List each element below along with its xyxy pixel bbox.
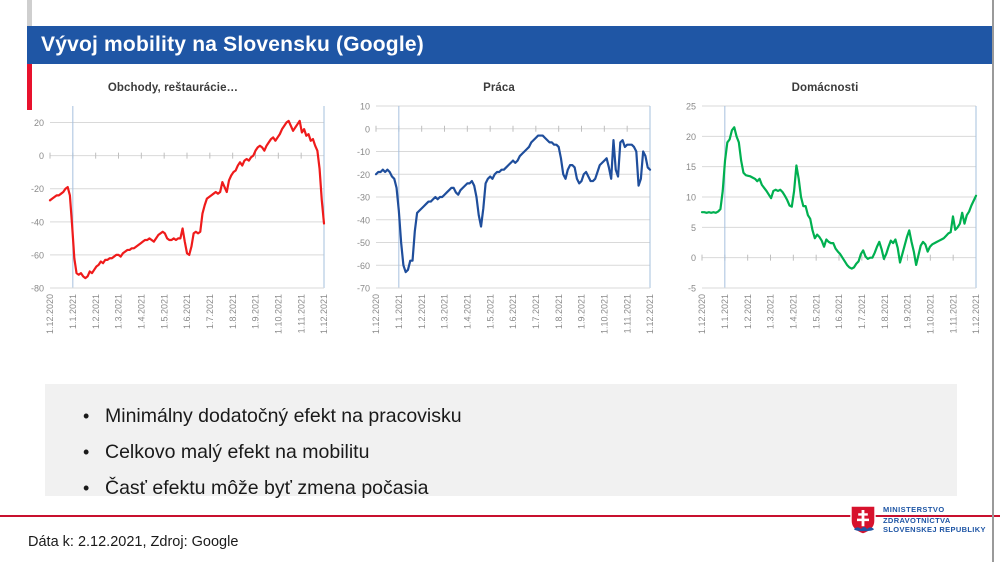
chart-card-residential: Domácnosti 2520151050-51.12.20201.1.2021…	[662, 78, 988, 370]
svg-text:1.7.2021: 1.7.2021	[205, 294, 215, 329]
svg-text:-70: -70	[357, 284, 370, 294]
svg-text:1.12.2021: 1.12.2021	[319, 294, 329, 334]
chart-title-residential: Domácnosti	[662, 78, 988, 94]
svg-text:25: 25	[686, 102, 696, 112]
svg-text:1.11.2021: 1.11.2021	[948, 294, 958, 333]
svg-text:1.6.2021: 1.6.2021	[182, 294, 192, 329]
svg-text:20: 20	[686, 132, 696, 142]
chart-title-retail: Obchody, reštaurácie…	[10, 78, 336, 94]
svg-text:1.9.2021: 1.9.2021	[577, 294, 587, 329]
page-title: Vývoj mobility na Slovensku (Google)	[27, 33, 424, 57]
svg-text:1.10.2021: 1.10.2021	[926, 294, 936, 334]
svg-text:1.12.2021: 1.12.2021	[645, 294, 655, 334]
chart-work: 100-10-20-30-40-50-60-701.12.20201.1.202…	[336, 94, 662, 366]
bullet-text: Celkovo malý efekt na mobilitu	[105, 441, 369, 463]
svg-text:-40: -40	[31, 217, 44, 227]
svg-text:1.12.2021: 1.12.2021	[971, 294, 981, 334]
svg-text:-20: -20	[31, 184, 44, 194]
decorative-grey-rail	[27, 0, 32, 26]
svg-text:1.4.2021: 1.4.2021	[137, 294, 147, 329]
slovak-coat-of-arms-icon	[850, 505, 876, 535]
chart-title-work: Práca	[336, 78, 662, 94]
chart-card-work: Práca 100-10-20-30-40-50-60-701.12.20201…	[336, 78, 662, 370]
list-item: • Celkovo malý efekt na mobilitu	[83, 434, 957, 470]
slide-right-edge	[992, 0, 994, 562]
svg-text:1.3.2021: 1.3.2021	[114, 294, 124, 329]
svg-text:1.3.2021: 1.3.2021	[440, 294, 450, 329]
svg-text:-40: -40	[357, 215, 370, 225]
svg-text:1.1.2021: 1.1.2021	[720, 294, 730, 329]
svg-text:1.2.2021: 1.2.2021	[91, 294, 101, 329]
svg-text:1.11.2021: 1.11.2021	[296, 294, 306, 333]
bullet-marker: •	[83, 434, 89, 470]
svg-text:0: 0	[365, 124, 370, 134]
svg-text:-60: -60	[357, 261, 370, 271]
svg-text:1.1.2021: 1.1.2021	[68, 294, 78, 329]
svg-text:-20: -20	[357, 170, 370, 180]
svg-text:0: 0	[691, 253, 696, 263]
svg-text:1.11.2021: 1.11.2021	[622, 294, 632, 333]
source-note: Dáta k: 2.12.2021, Zdroj: Google	[28, 534, 238, 550]
svg-text:-60: -60	[31, 250, 44, 260]
svg-text:-5: -5	[688, 284, 696, 294]
svg-text:1.8.2021: 1.8.2021	[228, 294, 238, 329]
svg-text:1.12.2020: 1.12.2020	[45, 294, 55, 334]
slide-title-bar: Vývoj mobility na Slovensku (Google)	[27, 26, 992, 64]
svg-text:10: 10	[360, 102, 370, 112]
svg-text:1.10.2021: 1.10.2021	[600, 294, 610, 334]
svg-text:1.4.2021: 1.4.2021	[463, 294, 473, 329]
chart-retail: 200-20-40-60-801.12.20201.1.20211.2.2021…	[10, 94, 336, 366]
ministry-line-1: MINISTERSTVO	[883, 506, 986, 516]
svg-text:10: 10	[686, 193, 696, 203]
svg-text:-10: -10	[357, 147, 370, 157]
svg-text:1.5.2021: 1.5.2021	[159, 294, 169, 329]
bullet-marker: •	[83, 398, 89, 434]
svg-text:1.8.2021: 1.8.2021	[880, 294, 890, 329]
charts-row: Obchody, reštaurácie… 200-20-40-60-801.1…	[10, 78, 990, 370]
svg-text:15: 15	[686, 162, 696, 172]
svg-text:1.1.2021: 1.1.2021	[394, 294, 404, 329]
list-item: • Časť efektu môže byť zmena počasia	[83, 470, 957, 506]
svg-text:1.6.2021: 1.6.2021	[508, 294, 518, 329]
svg-text:1.9.2021: 1.9.2021	[903, 294, 913, 329]
svg-text:1.12.2020: 1.12.2020	[697, 294, 707, 334]
svg-text:1.4.2021: 1.4.2021	[789, 294, 799, 329]
svg-text:0: 0	[39, 151, 44, 161]
svg-text:1.2.2021: 1.2.2021	[743, 294, 753, 329]
bullet-text: Časť efektu môže byť zmena počasia	[105, 477, 429, 499]
ministry-logo: MINISTERSTVO ZDRAVOTNÍCTVA SLOVENSKEJ RE…	[850, 500, 990, 540]
ministry-line-3: SLOVENSKEJ REPUBLIKY	[883, 526, 986, 534]
bullet-text: Minimálny dodatočný efekt na pracovisku	[105, 405, 462, 427]
svg-text:1.5.2021: 1.5.2021	[485, 294, 495, 329]
svg-text:1.10.2021: 1.10.2021	[274, 294, 284, 334]
svg-text:-80: -80	[31, 284, 44, 294]
svg-text:1.9.2021: 1.9.2021	[251, 294, 261, 329]
takeaways-panel: • Minimálny dodatočný efekt na pracovisk…	[45, 384, 957, 496]
svg-text:1.8.2021: 1.8.2021	[554, 294, 564, 329]
svg-text:1.7.2021: 1.7.2021	[857, 294, 867, 329]
slide-canvas: Vývoj mobility na Slovensku (Google) Obc…	[0, 0, 1000, 562]
chart-residential: 2520151050-51.12.20201.1.20211.2.20211.3…	[662, 94, 988, 366]
svg-text:20: 20	[34, 118, 44, 128]
svg-text:-30: -30	[357, 193, 370, 203]
svg-text:-50: -50	[357, 238, 370, 248]
list-item: • Minimálny dodatočný efekt na pracovisk…	[83, 398, 957, 434]
svg-text:1.7.2021: 1.7.2021	[531, 294, 541, 329]
ministry-logo-text: MINISTERSTVO ZDRAVOTNÍCTVA SLOVENSKEJ RE…	[883, 506, 986, 533]
chart-card-retail: Obchody, reštaurácie… 200-20-40-60-801.1…	[10, 78, 336, 370]
svg-text:5: 5	[691, 223, 696, 233]
svg-text:1.12.2020: 1.12.2020	[371, 294, 381, 334]
takeaways-list: • Minimálny dodatočný efekt na pracovisk…	[45, 384, 957, 506]
svg-text:1.6.2021: 1.6.2021	[834, 294, 844, 329]
svg-text:1.3.2021: 1.3.2021	[766, 294, 776, 329]
svg-text:1.2.2021: 1.2.2021	[417, 294, 427, 329]
svg-text:1.5.2021: 1.5.2021	[811, 294, 821, 329]
bullet-marker: •	[83, 470, 89, 506]
